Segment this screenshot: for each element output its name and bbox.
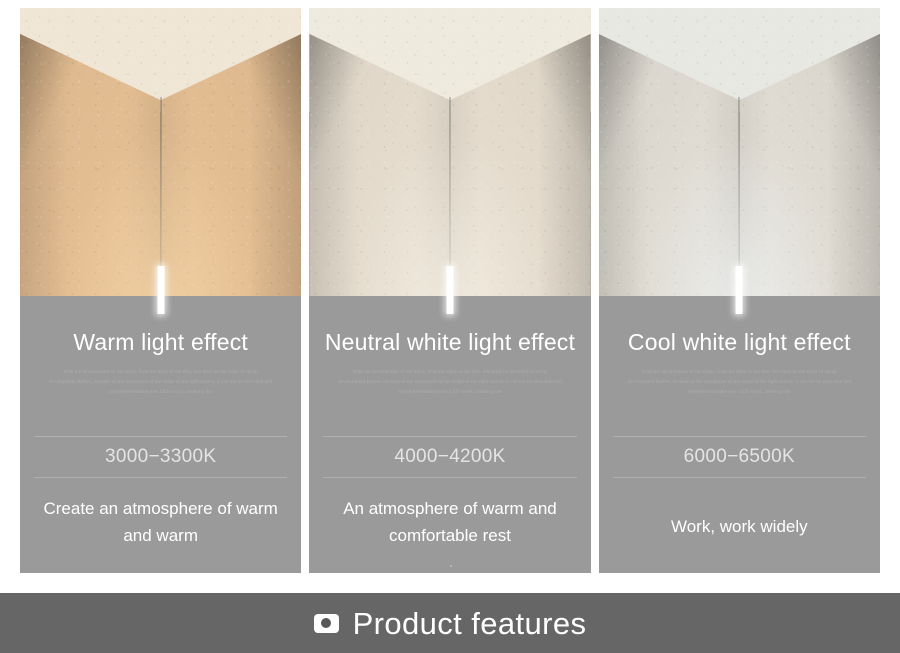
color-temperature-value: 4000−4200K (341, 446, 558, 468)
room-photo-warm (20, 8, 301, 296)
light-effect-panels: Warm light effect With the development o… (20, 8, 880, 573)
color-temperature-row: 6000−6500K (613, 436, 866, 478)
product-feature-banner: Warm light effect With the development o… (0, 0, 900, 653)
panel-title: Cool white light effect (613, 330, 866, 355)
panel-info-cool: Cool white light effect With the develop… (599, 296, 880, 573)
panel-title: Warm light effect (34, 330, 287, 355)
color-temperature-row: 3000−3300K (34, 436, 287, 478)
light-effect-panel-neutral[interactable]: Neutral white light effect With the deve… (309, 8, 590, 573)
camera-lens-dot (321, 618, 331, 628)
light-effect-panel-cool[interactable]: Cool white light effect With the develop… (599, 8, 880, 573)
panel-caption: Work, work widely (613, 514, 866, 540)
product-features-bar: Product features (0, 593, 900, 653)
color-temperature-row: 4000−4200K (323, 436, 576, 478)
led-light-strip-icon (446, 266, 453, 314)
led-light-strip-icon (736, 266, 743, 314)
product-features-title: Product features (353, 608, 587, 639)
panel-description: With the development of the times, from … (613, 368, 866, 398)
panel-title: Neutral white light effect (323, 330, 576, 355)
panel-description: With the development of the times, from … (34, 368, 287, 398)
camera-lens-icon (314, 614, 339, 633)
panel-info-warm: Warm light effect With the development o… (20, 296, 301, 573)
led-light-strip-icon (157, 266, 164, 314)
panel-info-neutral: Neutral white light effect With the deve… (309, 296, 590, 573)
panel-caption: An atmosphere of warm and comfortable re… (323, 496, 576, 549)
room-photo-neutral (309, 8, 590, 296)
color-temperature-value: 6000−6500K (631, 446, 848, 468)
stray-dot (450, 565, 452, 567)
color-temperature-value: 3000−3300K (52, 446, 269, 468)
light-effect-panel-warm[interactable]: Warm light effect With the development o… (20, 8, 301, 573)
panel-description: With the development of the times, from … (323, 368, 576, 398)
room-photo-cool (599, 8, 880, 296)
panel-caption: Create an atmosphere of warm and warm (34, 496, 287, 549)
